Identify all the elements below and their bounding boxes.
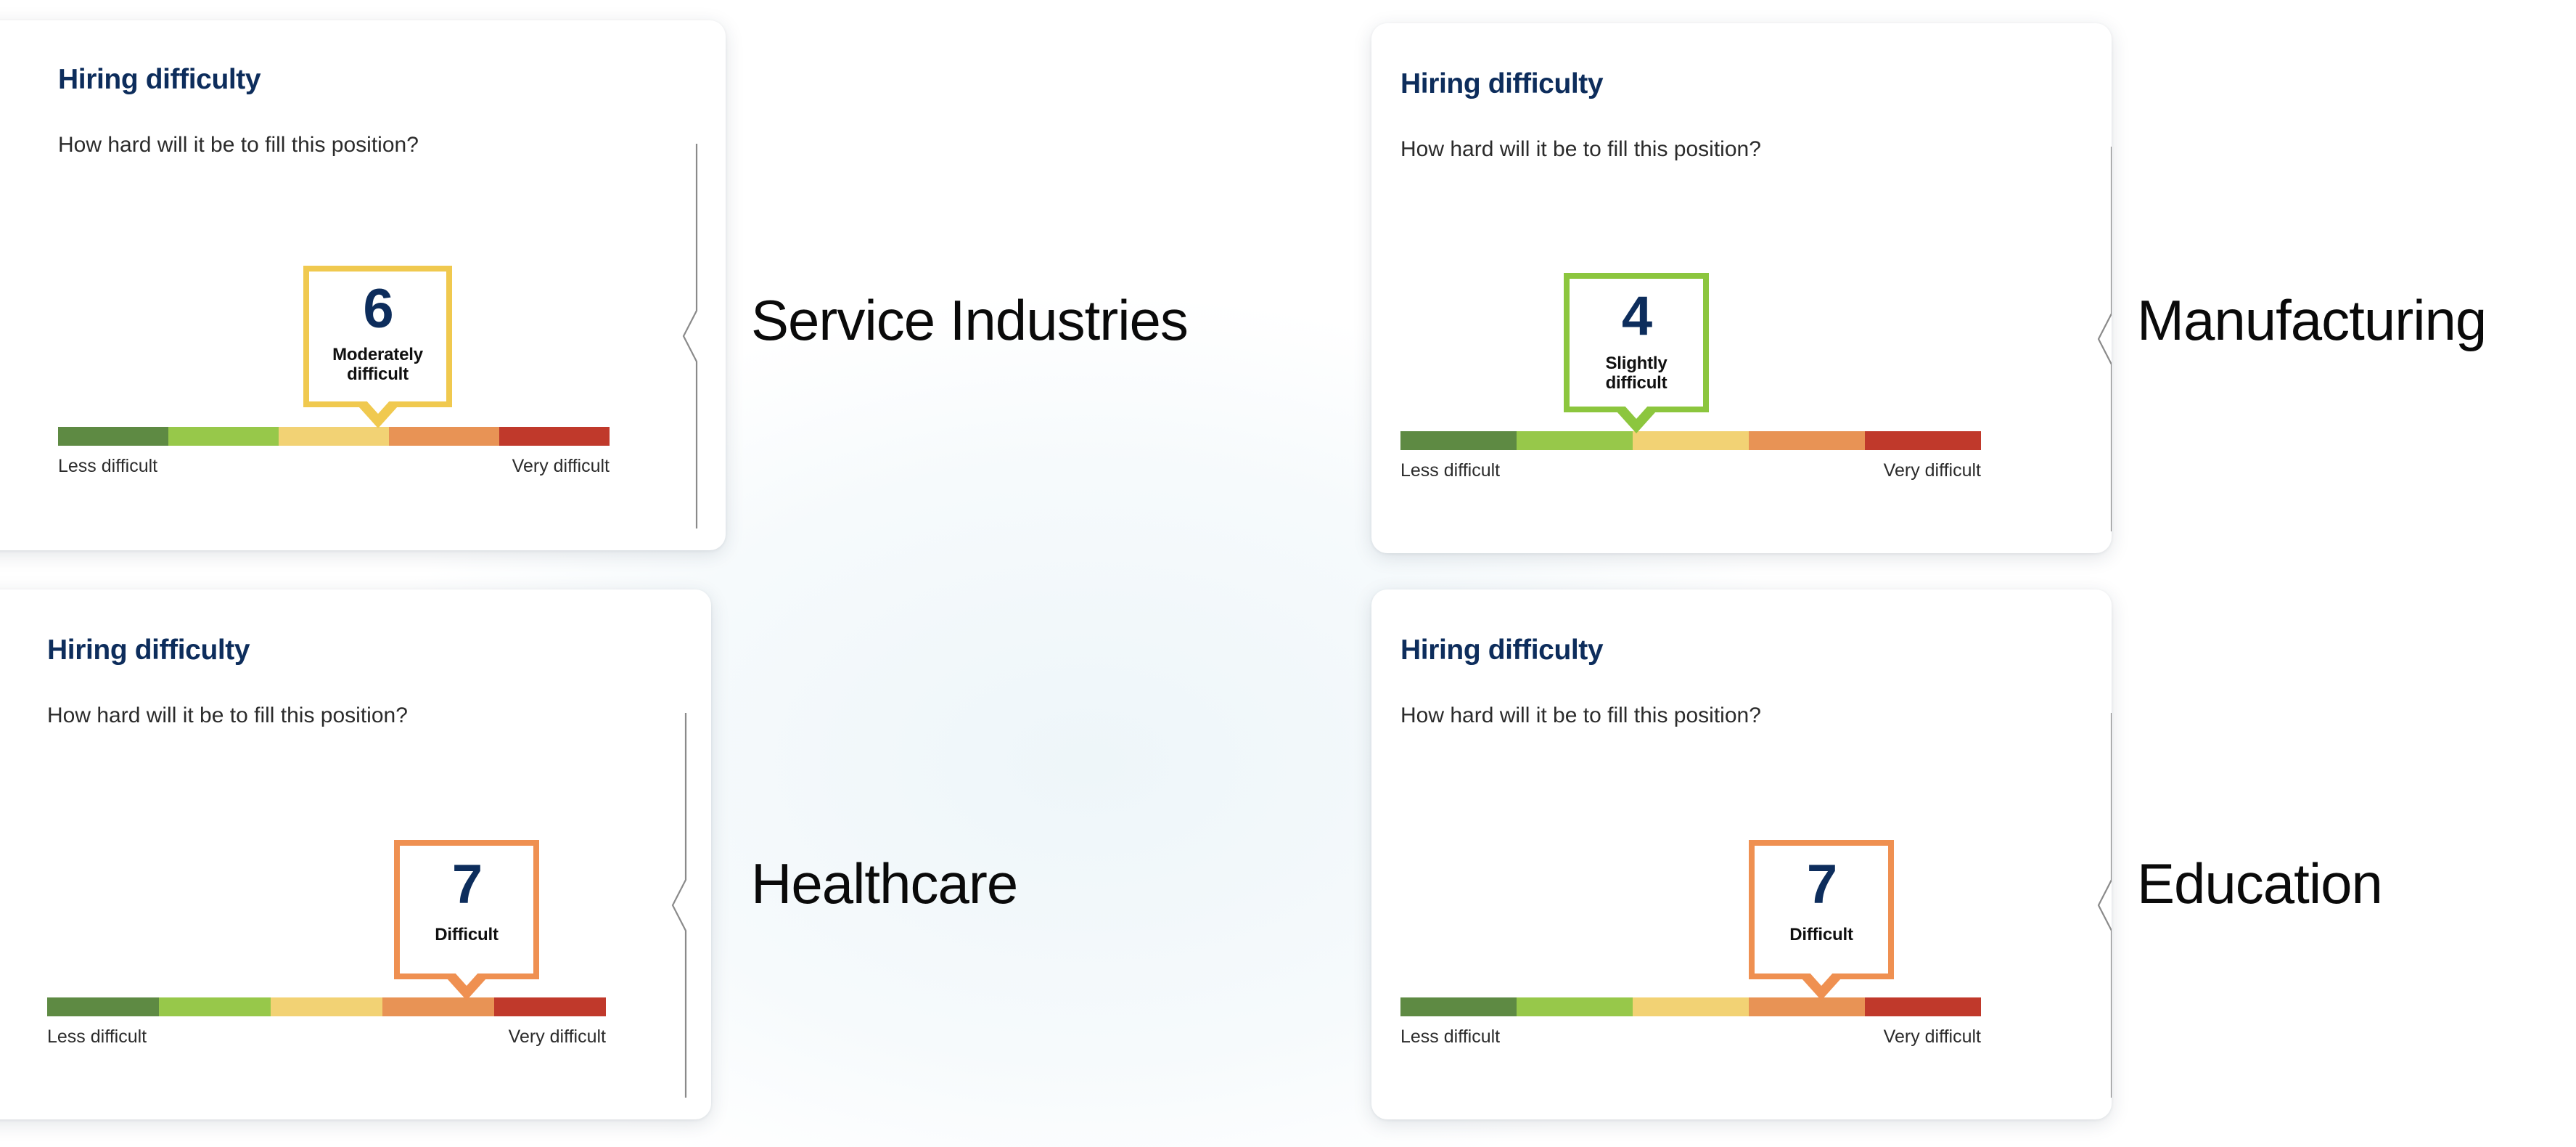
card-divider xyxy=(2097,713,2112,1098)
difficulty-rating-label: Moderately difficult xyxy=(309,346,446,385)
card-question: How hard will it be to fill this positio… xyxy=(47,703,408,728)
scale-segment-3 xyxy=(1633,431,1749,450)
difficulty-scale-bar xyxy=(47,997,606,1016)
difficulty-gauge: Less difficult Very difficult xyxy=(1400,431,1981,511)
scale-segment-2 xyxy=(159,997,271,1016)
card-title: Hiring difficulty xyxy=(58,64,261,96)
scale-caption: Less difficult Very difficult xyxy=(58,456,610,477)
scale-max-label: Very difficult xyxy=(512,456,610,477)
difficulty-callout: 4 Slightly difficult xyxy=(1564,273,1709,412)
card-question: How hard will it be to fill this positio… xyxy=(1400,137,1761,162)
difficulty-scale-bar xyxy=(1400,431,1981,450)
scale-segment-5 xyxy=(1865,431,1981,450)
scale-segment-1 xyxy=(47,997,159,1016)
chevron-divider-icon xyxy=(682,144,711,528)
series-label-manufacturing: Manufacturing xyxy=(2137,287,2486,354)
scale-segment-1 xyxy=(1400,431,1517,450)
difficulty-value: 6 xyxy=(309,282,446,337)
scale-segment-4 xyxy=(1749,431,1865,450)
hiring-difficulty-card-manufacturing: Hiring difficulty How hard will it be to… xyxy=(1371,23,2112,553)
scale-max-label: Very difficult xyxy=(1884,460,1981,481)
difficulty-callout: 6 Moderately difficult xyxy=(303,266,452,407)
series-label-education: Education xyxy=(2137,851,2382,917)
difficulty-scale-bar xyxy=(1400,997,1981,1016)
scale-segment-5 xyxy=(494,997,606,1016)
scale-caption: Less difficult Very difficult xyxy=(1400,1026,1981,1048)
card-question: How hard will it be to fill this positio… xyxy=(58,133,419,158)
scale-segment-2 xyxy=(1517,997,1633,1016)
scale-segment-3 xyxy=(271,997,382,1016)
difficulty-gauge: Less difficult Very difficult xyxy=(47,997,606,1077)
difficulty-value: 7 xyxy=(1755,857,1888,913)
difficulty-value: 7 xyxy=(400,857,533,913)
scale-segment-1 xyxy=(1400,997,1517,1016)
card-divider xyxy=(2097,147,2112,531)
scale-max-label: Very difficult xyxy=(509,1026,606,1048)
difficulty-rating-label: Slightly difficult xyxy=(1570,354,1703,393)
scale-segment-3 xyxy=(279,427,389,446)
hiring-difficulty-card-education: Hiring difficulty How hard will it be to… xyxy=(1371,589,2112,1119)
chevron-divider-icon xyxy=(2097,147,2112,531)
series-label-service-industries: Service Industries xyxy=(751,287,1188,354)
chevron-divider-icon xyxy=(671,713,700,1098)
scale-segment-5 xyxy=(499,427,610,446)
scale-caption: Less difficult Very difficult xyxy=(47,1026,606,1048)
card-title: Hiring difficulty xyxy=(1400,634,1603,666)
difficulty-gauge: Less difficult Very difficult xyxy=(1400,997,1981,1077)
difficulty-scale-bar xyxy=(58,427,610,446)
scale-min-label: Less difficult xyxy=(1400,460,1500,481)
scale-segment-2 xyxy=(1517,431,1633,450)
scale-caption: Less difficult Very difficult xyxy=(1400,460,1981,481)
hiring-difficulty-card-healthcare: Hiring difficulty How hard will it be to… xyxy=(0,589,711,1119)
difficulty-value: 4 xyxy=(1570,289,1703,344)
scale-segment-1 xyxy=(58,427,168,446)
difficulty-rating-label: Difficult xyxy=(400,926,533,945)
hiring-difficulty-card-service-industries: Hiring difficulty How hard will it be to… xyxy=(0,20,726,550)
scale-max-label: Very difficult xyxy=(1884,1026,1981,1048)
scale-min-label: Less difficult xyxy=(1400,1026,1500,1048)
difficulty-callout: 7 Difficult xyxy=(1749,840,1894,979)
difficulty-callout: 7 Difficult xyxy=(394,840,539,979)
card-title: Hiring difficulty xyxy=(47,634,250,666)
card-divider xyxy=(671,713,700,1098)
scale-segment-4 xyxy=(389,427,499,446)
chevron-divider-icon xyxy=(2097,713,2112,1098)
difficulty-rating-label: Difficult xyxy=(1755,926,1888,945)
scale-segment-2 xyxy=(168,427,279,446)
card-divider xyxy=(682,144,711,528)
scale-segment-3 xyxy=(1633,997,1749,1016)
card-question: How hard will it be to fill this positio… xyxy=(1400,703,1761,728)
card-title: Hiring difficulty xyxy=(1400,68,1603,100)
scale-segment-5 xyxy=(1865,997,1981,1016)
difficulty-gauge: Less difficult Very difficult xyxy=(58,427,610,507)
scale-min-label: Less difficult xyxy=(47,1026,147,1048)
scale-min-label: Less difficult xyxy=(58,456,157,477)
series-label-healthcare: Healthcare xyxy=(751,851,1017,917)
